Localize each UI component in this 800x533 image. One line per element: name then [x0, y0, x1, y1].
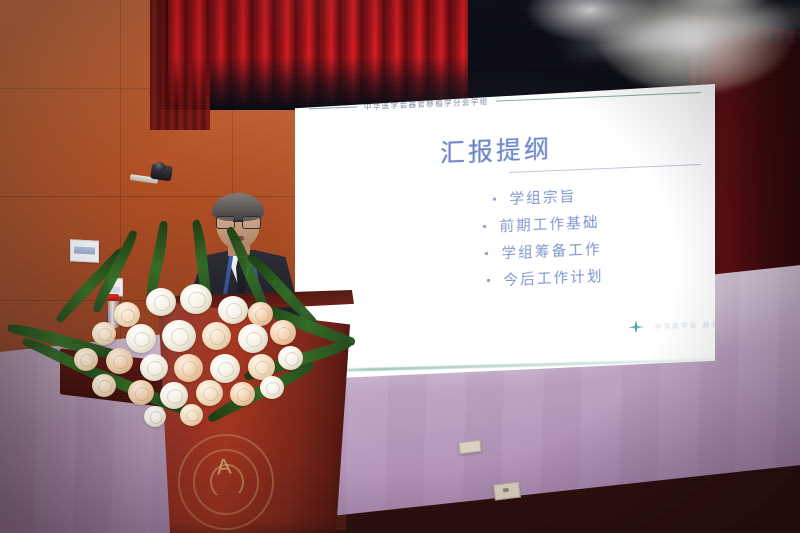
bullet-label: 学组筹备工作 [502, 238, 602, 263]
glasses-icon [216, 216, 261, 227]
slide-bullet-list: 学组宗旨 前期工作基础 学组筹备工作 今后工作计划 [491, 176, 721, 294]
bullet-label: 学组宗旨 [510, 185, 577, 209]
teal-bird-logo-icon [627, 318, 645, 335]
bullet-dot-icon [485, 252, 488, 255]
glasses-lens-right [242, 216, 261, 229]
wall-sign-plate [70, 239, 99, 263]
bullet-dot-icon [483, 225, 486, 228]
projection-screen: 中华医学会器官移植学分会学组 汇报提纲 学组宗旨 前期工作基础 学组筹备工作 [295, 84, 715, 380]
bullet-label: 今后工作计划 [504, 265, 604, 290]
slide-title: 汇报提纲 [295, 123, 697, 176]
red-curtain [168, 0, 468, 108]
slide-content: 中华医学会器官移植学分会学组 汇报提纲 学组宗旨 前期工作基础 学组筹备工作 [295, 66, 715, 380]
bullet-dot-icon [487, 279, 490, 282]
bullet-label: 前期工作基础 [500, 211, 600, 236]
podium-emblem-letter: A [211, 451, 238, 483]
bullet-dot-icon [493, 198, 496, 201]
flower-arrangement [52, 262, 342, 427]
stage-photo: 中华医学会器官移植学分会学组 汇报提纲 学组宗旨 前期工作基础 学组筹备工作 [0, 0, 800, 533]
floor-socket-plate [493, 481, 521, 500]
